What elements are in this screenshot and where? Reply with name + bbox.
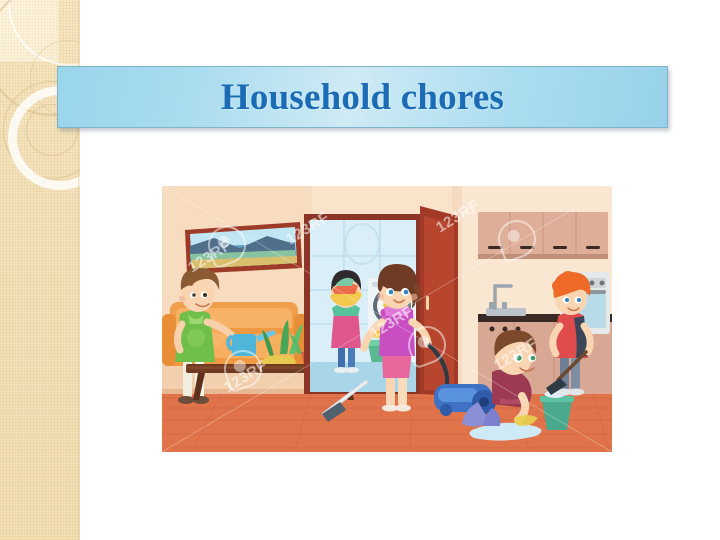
red-door bbox=[420, 206, 458, 396]
illustration-artwork bbox=[162, 186, 612, 452]
sidebar-corner-block bbox=[0, 0, 58, 62]
page-title: Household chores bbox=[221, 76, 504, 119]
title-banner: Household chores bbox=[57, 66, 668, 128]
framed-picture bbox=[185, 222, 302, 274]
slide: Household chores bbox=[0, 0, 720, 540]
chores-illustration: 123RF 123RF 123RF 123RF 123RF 123RF bbox=[162, 186, 612, 452]
